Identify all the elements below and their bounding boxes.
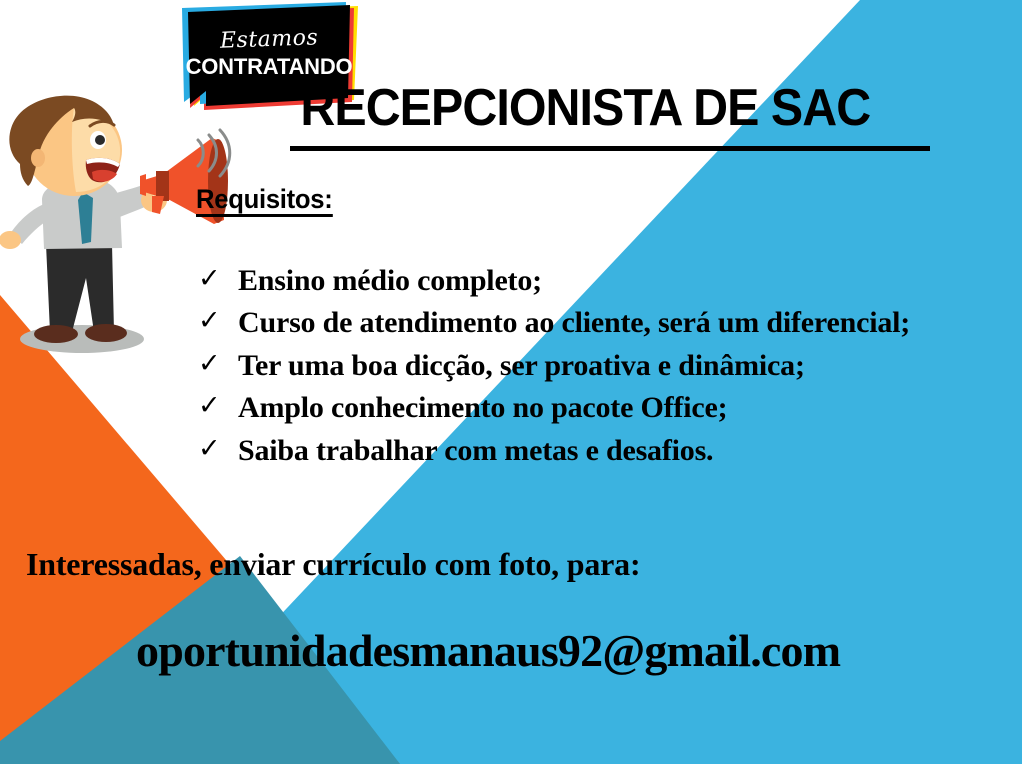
megaphone-grip bbox=[140, 174, 146, 196]
hand-left-icon bbox=[0, 231, 21, 249]
list-item-label: Ensino médio completo; bbox=[238, 264, 542, 297]
title-underline bbox=[290, 146, 930, 151]
check-icon: ✓ bbox=[198, 347, 220, 382]
requirements-list: ✓ Ensino médio completo; ✓ Curso de aten… bbox=[196, 262, 986, 474]
list-item-label: Ter uma boa dicção, ser proativa e dinâm… bbox=[238, 349, 805, 382]
sound-waves-icon bbox=[192, 128, 236, 178]
shoe-left-icon bbox=[34, 325, 78, 343]
list-item: ✓ Amplo conhecimento no pacote Office; bbox=[196, 389, 986, 427]
list-item: ✓ Ensino médio completo; bbox=[196, 262, 986, 300]
call-to-action-text: Interessadas, enviar currículo com foto,… bbox=[26, 548, 640, 580]
list-item: ✓ Saiba trabalhar com metas e desafios. bbox=[196, 432, 986, 470]
check-icon: ✓ bbox=[198, 262, 220, 297]
list-item: ✓ Ter uma boa dicção, ser proativa e din… bbox=[196, 347, 986, 385]
page-title: RECEPCIONISTA DE SAC bbox=[297, 82, 874, 134]
job-poster: Estamos CONTRATANDO RECEPCIONISTA DE SAC… bbox=[0, 0, 1022, 764]
list-item-label: Amplo conhecimento no pacote Office; bbox=[238, 391, 727, 424]
ear-icon bbox=[31, 149, 45, 167]
contact-email: oportunidadesmanaus92@gmail.com bbox=[136, 628, 840, 674]
pupil-icon bbox=[95, 135, 105, 145]
check-icon: ✓ bbox=[198, 389, 220, 424]
check-icon: ✓ bbox=[198, 304, 220, 339]
shoe-right-icon bbox=[85, 324, 127, 342]
list-item: ✓ Curso de atendimento ao cliente, será … bbox=[196, 304, 986, 342]
list-item-label: Curso de atendimento ao cliente, será um… bbox=[238, 304, 986, 342]
pants-icon bbox=[46, 244, 114, 332]
check-icon: ✓ bbox=[198, 432, 220, 467]
requirements-heading: Requisitos: bbox=[196, 186, 333, 217]
list-item-label: Saiba trabalhar com metas e desafios. bbox=[238, 434, 713, 467]
